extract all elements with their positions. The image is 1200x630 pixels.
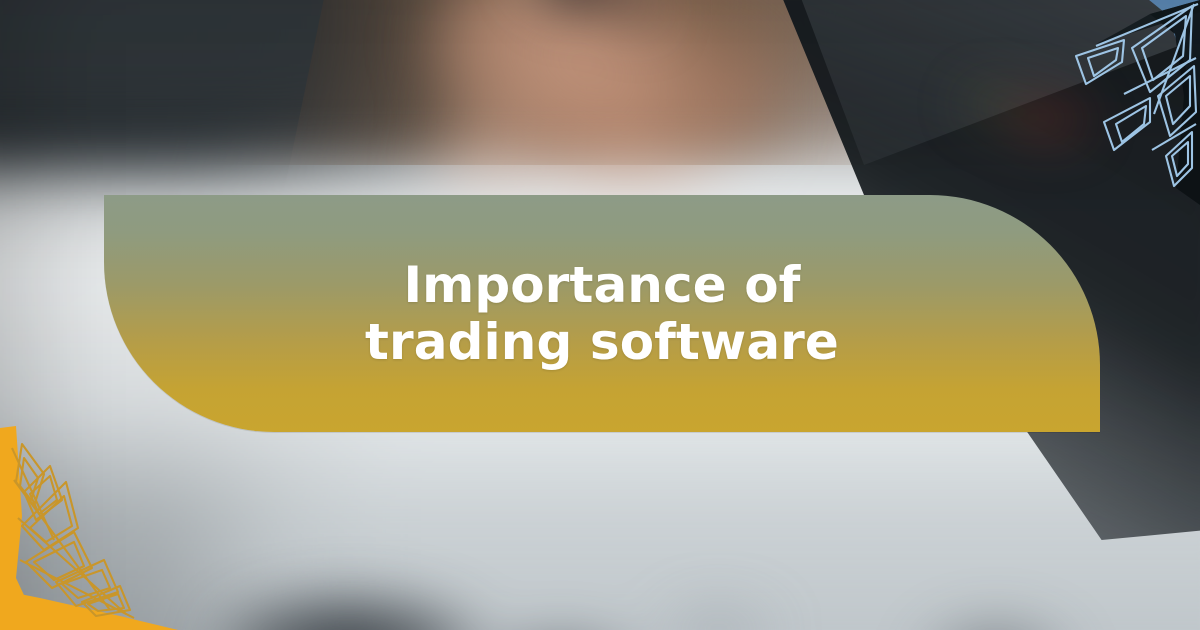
page-title: Importance of trading software [292, 257, 912, 371]
title-banner: Importance of trading software [104, 195, 1100, 432]
hero-banner-canvas: Importance of trading software [0, 0, 1200, 630]
